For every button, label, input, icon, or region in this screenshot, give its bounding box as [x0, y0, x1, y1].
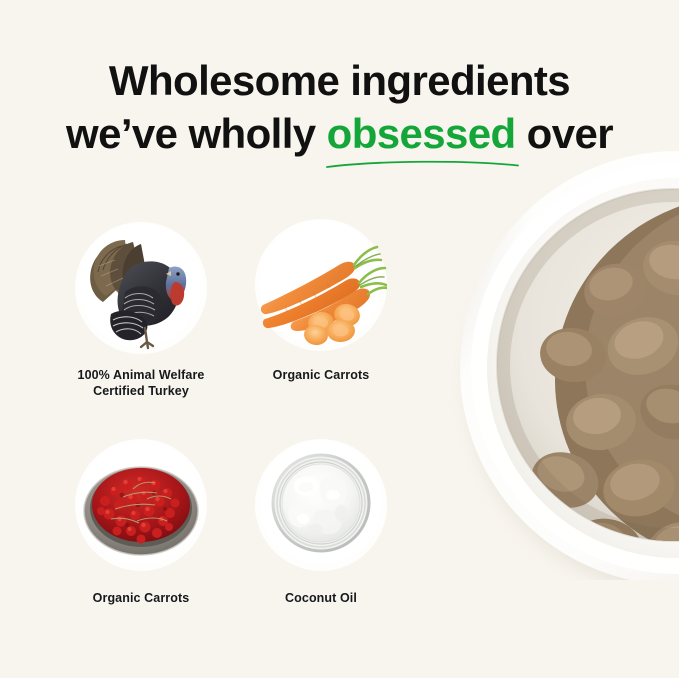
- accent-underline-icon: [325, 159, 520, 169]
- ingredient-label-carrots-top: Organic Carrots: [231, 367, 411, 383]
- headline: Wholesome ingredients we’ve wholly obses…: [0, 54, 679, 160]
- ingredient-image-berries: [75, 439, 207, 571]
- ingredient-card-turkey: 100% Animal Welfare Certified Turkey: [51, 222, 231, 399]
- headline-accent-text: obsessed: [327, 110, 516, 157]
- bowl-shadow: [467, 170, 679, 580]
- ingredient-label-berries: Organic Carrots: [51, 590, 231, 606]
- ingredient-label-turkey-line2: Certified Turkey: [93, 384, 189, 398]
- promo-graphic: Wholesome ingredients we’ve wholly obses…: [0, 0, 679, 678]
- ingredient-image-carrots-top: [255, 219, 387, 351]
- headline-line-2-before: we’ve wholly: [66, 110, 327, 157]
- kibble-pile: [497, 189, 679, 580]
- headline-line-2-after: over: [516, 110, 613, 157]
- ingredient-image-coconut: [255, 439, 387, 571]
- bowl-rim: [467, 158, 679, 578]
- ingredient-label-turkey: 100% Animal Welfare Certified Turkey: [51, 367, 231, 399]
- bowl-rim-inner-highlight: [479, 170, 679, 566]
- ingredient-card-carrots-top: Organic Carrots: [231, 219, 411, 383]
- dog-food-bowl-image: [415, 150, 679, 580]
- bowl-body: [467, 158, 679, 578]
- headline-accent-word: obsessed: [327, 107, 516, 160]
- ingredient-card-coconut: Coconut Oil: [231, 439, 411, 606]
- ingredient-label-turkey-line1: 100% Animal Welfare: [78, 368, 205, 382]
- bowl-interior: [497, 189, 679, 541]
- bowl-interior-edge: [497, 189, 679, 541]
- ingredient-image-turkey: [75, 222, 207, 354]
- headline-line-2: we’ve wholly obsessed over: [0, 107, 679, 160]
- ingredient-label-coconut: Coconut Oil: [231, 590, 411, 606]
- turkey-eye: [176, 272, 179, 275]
- ingredient-card-berries: Organic Carrots: [51, 439, 231, 606]
- headline-line-1: Wholesome ingredients: [0, 54, 679, 107]
